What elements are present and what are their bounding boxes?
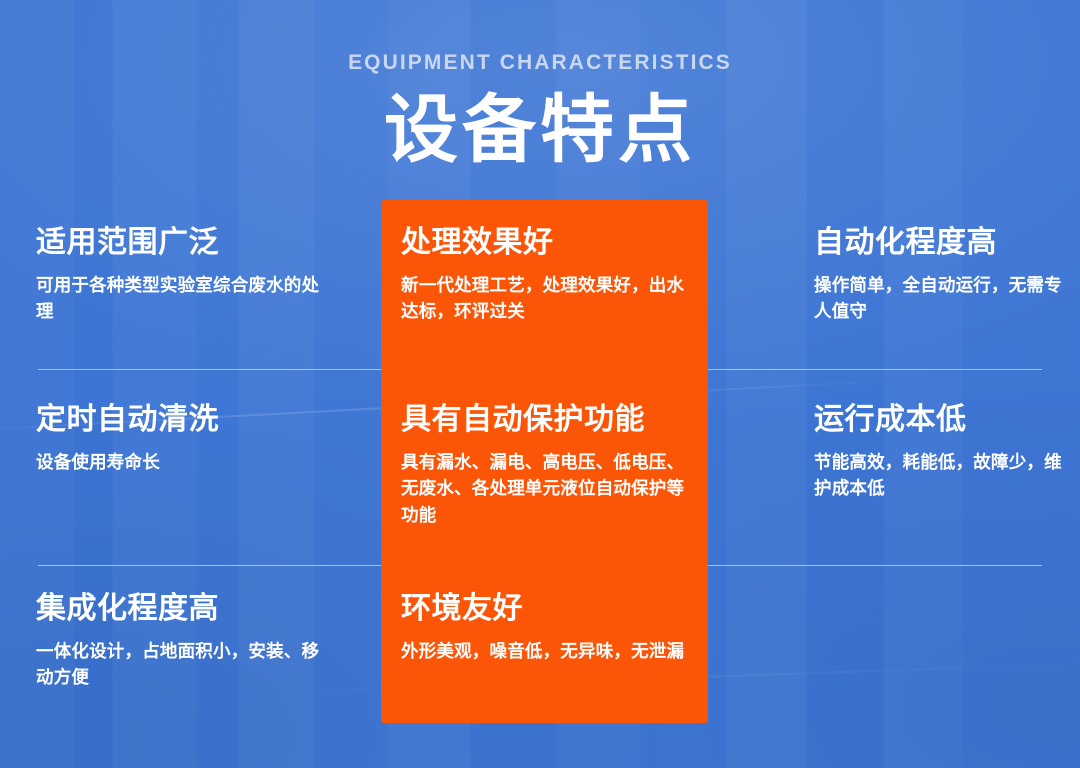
feature-heading: 集成化程度高 [36,592,336,626]
feature-card-right-1: 自动化程度高 操作简单，全自动运行，无需专人值守 [814,226,1064,325]
feature-body: 节能高效，耗能低，故障少，维护成本低 [814,449,1064,502]
feature-card-right-2: 运行成本低 节能高效，耗能低，故障少，维护成本低 [814,403,1064,502]
feature-body: 可用于各种类型实验室综合废水的处理 [36,272,336,325]
poster-canvas: EQUIPMENT CHARACTERISTICS 设备特点 适用范围广泛 可用… [0,0,1080,768]
feature-body: 外形美观，噪音低，无异味，无泄漏 [401,638,693,665]
feature-card-center-2: 具有自动保护功能 具有漏水、漏电、高电压、低电压、无废水、各处理单元液位自动保护… [401,403,693,528]
feature-body: 一体化设计，占地面积小，安装、移动方便 [36,638,336,691]
feature-body: 具有漏水、漏电、高电压、低电压、无废水、各处理单元液位自动保护等功能 [401,449,693,529]
feature-card-left-2: 定时自动清洗 设备使用寿命长 [36,403,336,475]
feature-heading: 定时自动清洗 [36,403,336,437]
feature-heading: 运行成本低 [814,403,1064,437]
feature-card-left-3: 集成化程度高 一体化设计，占地面积小，安装、移动方便 [36,592,336,691]
feature-card-left-1: 适用范围广泛 可用于各种类型实验室综合废水的处理 [36,226,336,325]
features-grid: 适用范围广泛 可用于各种类型实验室综合废水的处理 定时自动清洗 设备使用寿命长 … [0,0,1080,768]
feature-body: 新一代处理工艺，处理效果好，出水达标，环评过关 [401,272,693,325]
feature-card-center-1: 处理效果好 新一代处理工艺，处理效果好，出水达标，环评过关 [401,226,693,325]
feature-heading: 具有自动保护功能 [401,403,693,437]
feature-heading: 自动化程度高 [814,226,1064,260]
feature-heading: 环境友好 [401,592,693,626]
feature-heading: 处理效果好 [401,226,693,260]
feature-card-center-3: 环境友好 外形美观，噪音低，无异味，无泄漏 [401,592,693,664]
feature-heading: 适用范围广泛 [36,226,336,260]
feature-body: 设备使用寿命长 [36,449,336,476]
feature-body: 操作简单，全自动运行，无需专人值守 [814,272,1064,325]
